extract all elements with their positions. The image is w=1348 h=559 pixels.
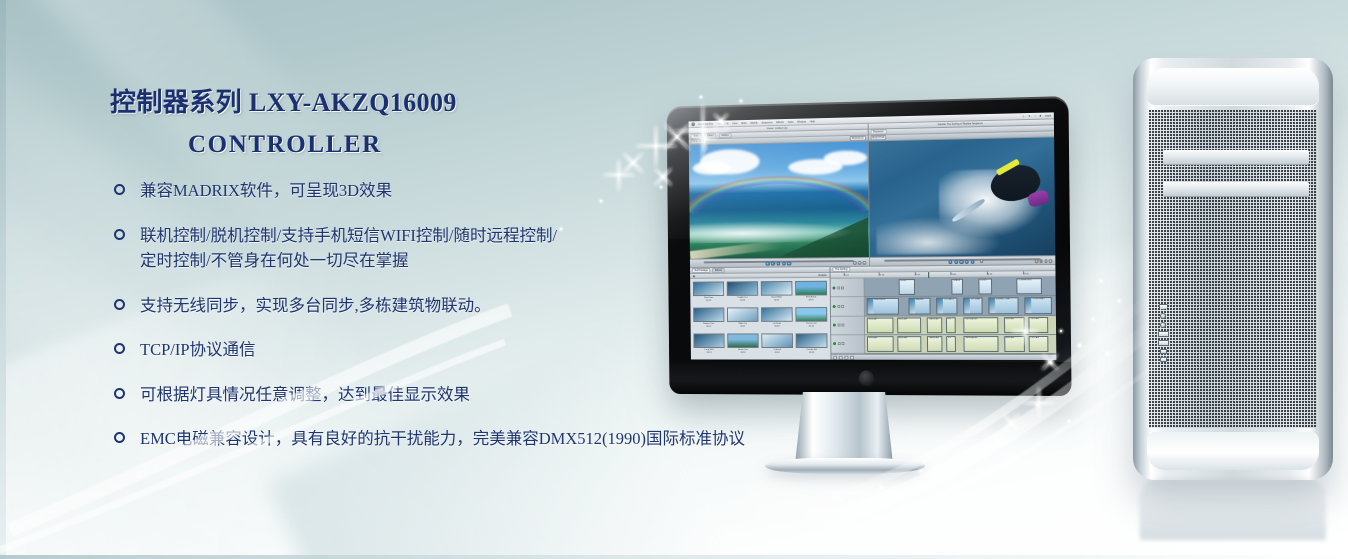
mark-out-button[interactable] <box>971 259 975 263</box>
timeline-clip[interactable]: LONG WALL <box>1025 297 1052 313</box>
page-title: 控制器系列 LXY-AKZQ16009 <box>110 82 730 119</box>
clip-label: LONG WALL <box>1032 298 1044 301</box>
timeline-track-v1[interactable]: PIPE DROP BARREL CUTBACK <box>865 296 1056 316</box>
viewer-transport <box>690 258 870 267</box>
fit-to-fill-button[interactable] <box>1049 260 1053 264</box>
sparkle-star-icon <box>1000 412 1022 434</box>
viewer-window: Viewer: Untitled Clip Video Filters Moti… <box>689 124 870 259</box>
sparkle-dust <box>1100 280 1102 282</box>
tab-filters[interactable]: Filters <box>705 133 717 138</box>
water-spray <box>876 214 1006 255</box>
track-target-toggle[interactable] <box>842 324 845 327</box>
tower-handle-top <box>1147 68 1319 106</box>
clip-thumbnail[interactable] <box>796 333 828 348</box>
menu-item-modify[interactable]: Modify <box>750 121 757 124</box>
sparkle-dust <box>1068 420 1070 422</box>
bullet-ring-icon <box>114 184 125 195</box>
track-lock-toggle[interactable] <box>837 324 840 327</box>
tab-surf-footage[interactable]: Surf Footage <box>692 268 711 273</box>
sparkle-dust <box>1106 352 1109 355</box>
clip-duration: 00:18 <box>774 325 779 327</box>
distort-button[interactable] <box>862 261 865 265</box>
timeline-clip[interactable]: WAVE.AIF <box>927 317 942 333</box>
canvas-window: Canvas: The Surfing in Pipeline Sequence… <box>868 119 1055 257</box>
timecode-out[interactable]: 00:00:32:10 <box>850 136 866 141</box>
timeline-clip[interactable]: BARREL <box>908 298 931 314</box>
ruler-label: 02:00 <box>915 275 920 277</box>
timeline-clip[interactable]: CUTBACK <box>936 298 957 314</box>
sparkle-dust <box>1078 344 1081 347</box>
track-header[interactable] <box>831 297 864 316</box>
clip-label: SUNSET LINE <box>996 299 1010 302</box>
clip-label: CUTBACK <box>944 299 954 302</box>
sparkle-dust <box>960 456 962 458</box>
timeline-toolbar <box>831 354 1056 360</box>
display-screen: Final Cut Pro File Edit View Mark Modify… <box>689 112 1057 360</box>
firewire-port-icon[interactable] <box>1159 304 1168 310</box>
timeline-body: TITLE XFADE LOGO LOWER 3RD PIPE DRO <box>831 277 1057 354</box>
menu-item-window[interactable]: Window <box>797 120 806 123</box>
surf-line <box>690 218 869 243</box>
timeline-window: The Surfing 00:00 01:00 02:00 03:00 <box>830 265 1056 360</box>
optical-drive-slot[interactable] <box>1163 150 1309 165</box>
clip-thumbnail[interactable] <box>795 307 827 322</box>
clip-thumb-strip <box>909 299 915 313</box>
display-brand-icon <box>858 370 873 386</box>
sparkle-dust <box>880 486 883 489</box>
clip-thumb-strip <box>1026 298 1032 312</box>
track-visible-toggle[interactable] <box>833 305 836 308</box>
list-item-label: EMC电磁兼容设计，具有良好的抗干扰能力，完美兼容DMX512(1990)国际标… <box>140 429 745 448</box>
timecode-in[interactable]: 00:00:14:02 <box>691 139 706 144</box>
viewer-tool-buttons[interactable] <box>853 261 865 265</box>
canvas-image-surfer <box>868 137 1055 257</box>
timeline-clip[interactable]: XFADE <box>951 279 963 295</box>
timeline-clip[interactable]: LOWER 3RD <box>1017 278 1042 294</box>
timeline-clip[interactable]: Surf-loop.aiff <box>963 317 998 333</box>
clip-thumbnail[interactable] <box>693 307 724 322</box>
track-lock-toggle[interactable] <box>837 286 840 289</box>
tab-motion[interactable]: Motion <box>719 133 731 138</box>
headphone-jack-icon[interactable] <box>1160 313 1166 319</box>
clip-overlays-icon[interactable] <box>845 355 849 359</box>
clip-thumbnail[interactable] <box>727 333 758 348</box>
mark-out-button[interactable] <box>787 261 791 265</box>
prev-frame-button[interactable] <box>771 261 775 265</box>
list-item[interactable]: Barrel Ride 00:21 <box>761 281 793 304</box>
list-item[interactable]: Pipe Drop 00:12 <box>693 281 724 304</box>
list-item[interactable]: Bottom Turn 00:11 <box>693 307 724 330</box>
track-height-icon[interactable] <box>850 355 854 359</box>
timeline-clip[interactable]: SUNSET LINE <box>988 298 1019 314</box>
clip-thumbnail[interactable] <box>761 307 793 322</box>
menu-item-view[interactable]: View <box>732 122 737 125</box>
bullet-ring-icon <box>114 432 125 443</box>
timeline-clip[interactable]: MUS.AIF <box>867 336 893 352</box>
clip-thumb-strip <box>868 299 874 313</box>
clip-label: PIPE DROP <box>874 299 885 302</box>
next-frame-button[interactable] <box>776 261 780 265</box>
clip-duration: 00:10 <box>775 351 780 353</box>
clip-label: BARREL <box>916 299 924 302</box>
timeline-track-a2[interactable]: MUS.AIF MUS.AIF WAVE.AIF FX Surf-loop.ai… <box>865 335 1056 354</box>
list-item: EMC电磁兼容设计，具有良好的抗干扰能力，完美兼容DMX512(1990)国际标… <box>110 426 850 452</box>
track-area[interactable]: TITLE XFADE LOGO LOWER 3RD PIPE DRO <box>865 277 1057 354</box>
bullet-ring-icon <box>114 299 125 310</box>
play-button[interactable] <box>766 261 770 265</box>
browser-window: Surf Footage Effects ▣ Duration Pipe D <box>690 267 831 360</box>
track-lock-toggle[interactable] <box>837 342 840 345</box>
link-toggle-icon[interactable] <box>833 355 837 359</box>
list-item-label: 联机控制/脱机控制/支持手机短信WIFI控制/随时远程控制/ <box>140 226 557 245</box>
track-visible-toggle[interactable] <box>833 286 836 289</box>
play-button[interactable] <box>948 260 952 264</box>
cloud <box>824 151 868 166</box>
clip-thumbnail[interactable] <box>693 333 724 347</box>
scrubber-handle[interactable] <box>980 259 983 263</box>
bullet-ring-icon <box>114 229 125 240</box>
track-header-column <box>831 279 866 354</box>
timeline-track-v2[interactable]: TITLE XFADE LOGO LOWER 3RD <box>865 277 1056 297</box>
replace-edit-button[interactable] <box>1044 260 1048 264</box>
clip-label: LIP SNAP <box>971 299 981 302</box>
next-frame-button[interactable] <box>959 260 963 264</box>
list-item[interactable]: Outside Set 00:19 <box>796 333 828 356</box>
timeline-clip[interactable]: PIPE DROP <box>867 298 899 314</box>
snapping-toggle-icon[interactable] <box>839 355 843 359</box>
ruler-label: 04:00 <box>987 274 992 276</box>
tower-computer <box>1133 58 1333 480</box>
clip-duration: 00:09 <box>740 299 745 301</box>
list-item[interactable]: Reef Break 00:15 <box>795 281 827 305</box>
canvas-transport <box>870 256 1056 265</box>
bullet-ring-icon <box>114 343 125 354</box>
tab-the-surfing[interactable]: The Surfing <box>832 267 850 272</box>
tab-effects[interactable]: Effects <box>712 268 725 273</box>
timeline-clip[interactable]: MUS.AIF <box>897 317 922 333</box>
volume-icon[interactable]: ♪ <box>1034 114 1035 117</box>
track-target-toggle[interactable] <box>841 305 844 308</box>
bluetooth-icon[interactable]: ⇅ <box>1028 114 1030 117</box>
menu-item-help[interactable]: Help <box>810 120 815 123</box>
mark-in-button[interactable] <box>782 261 786 265</box>
headline-block: 控制器系列 LXY-AKZQ16009 CONTROLLER <box>110 82 730 159</box>
clip-thumbnail[interactable] <box>761 281 793 296</box>
clip-thumbnail[interactable] <box>761 333 793 348</box>
ruler-label: 05:00 <box>1023 274 1028 276</box>
list-item[interactable]: Sunset Line 00:24 <box>795 307 827 330</box>
clip-thumbnail[interactable] <box>693 281 724 296</box>
canvas-tool-buttons[interactable] <box>1035 260 1053 264</box>
timeline-clip[interactable]: MUS.AIF <box>867 317 893 333</box>
timeline-clip[interactable]: OUT.AIF <box>1029 317 1049 333</box>
desktop-display: Final Cut Pro File Edit View Mark Modify… <box>667 96 1072 396</box>
prev-frame-button[interactable] <box>954 260 958 264</box>
ruler-label: 01:00 <box>879 275 884 277</box>
track-header[interactable] <box>831 335 864 354</box>
sparkle-dust <box>1118 300 1120 302</box>
surfer-scene <box>868 137 1055 257</box>
playback-buttons[interactable] <box>948 259 975 264</box>
wifi-icon[interactable]: ◇ <box>1022 115 1024 118</box>
apple-logo-icon[interactable] <box>691 122 695 126</box>
viewer-image-beach <box>689 141 869 258</box>
clip-thumbnail[interactable] <box>795 281 827 296</box>
list-item[interactable]: Beach Pan 00:16 <box>727 333 759 356</box>
firewire-port-icon[interactable] <box>1160 349 1167 354</box>
sparkle-dust <box>1092 318 1094 320</box>
menu-item-effects[interactable]: Effects <box>776 121 784 124</box>
track-target-toggle[interactable] <box>841 286 844 289</box>
list-item-label: 兼容MADRIX软件，可呈现3D效果 <box>140 181 392 200</box>
timecode-current[interactable]: 00:01:07:04 <box>870 135 886 140</box>
power-button-icon[interactable] <box>1160 322 1166 328</box>
crop-button[interactable] <box>858 261 861 265</box>
final-cut-pro-window: Final Cut Pro File Edit View Mark Modify… <box>689 112 1057 360</box>
insert-edit-button[interactable] <box>1035 260 1039 264</box>
tower-port-cluster <box>1155 304 1171 372</box>
menu-item-tools[interactable]: Tools <box>788 120 794 123</box>
mark-in-button[interactable] <box>965 260 969 264</box>
clip-thumb-strip <box>937 299 943 313</box>
ruler-label: 00:00 <box>844 275 849 277</box>
optical-drive-slot[interactable] <box>1163 182 1309 197</box>
timeline-clip[interactable]: MUS.AIF <box>897 336 922 352</box>
timeline-clip[interactable]: FX <box>946 317 956 333</box>
tower-reflection <box>1140 478 1326 540</box>
usb-port-icon[interactable] <box>1158 331 1169 337</box>
menu-item-file[interactable]: File <box>717 122 721 125</box>
clip-duration: 00:12 <box>706 299 711 301</box>
tower-handle-bottom <box>1147 432 1319 470</box>
browser-clip-grid: Pipe Drop 00:12 Paddle Out 00:09 <box>690 278 830 360</box>
sparkle-dust <box>920 470 922 472</box>
clip-thumb-strip <box>964 299 970 313</box>
timeline-clip[interactable]: LIP SNAP <box>963 298 982 314</box>
clip-thumbnail[interactable] <box>727 281 758 296</box>
clip-duration: 00:07 <box>740 325 745 327</box>
menu-item-edit[interactable]: Edit <box>724 122 728 125</box>
menu-item-mark[interactable]: Mark <box>741 121 747 124</box>
sparkle-dust <box>996 440 999 443</box>
browser-view-icon[interactable]: ▣ <box>693 274 695 277</box>
list-item[interactable]: Wipe Out 00:07 <box>727 307 759 330</box>
display-stand-neck <box>795 392 893 464</box>
ruler-label: 03:00 <box>951 274 956 276</box>
clip-duration: 00:15 <box>809 299 814 301</box>
clip-duration: 00:16 <box>741 351 746 353</box>
clip-thumb-strip <box>989 299 995 313</box>
list-item-label: 支持无线同步，实现多台同步,多栋建筑物联动。 <box>140 296 491 315</box>
overwrite-edit-button[interactable] <box>1039 260 1043 264</box>
banner-stage: 控制器系列 LXY-AKZQ16009 CONTROLLER 兼容MADRIX软… <box>0 0 1348 559</box>
display-chin <box>669 361 1071 396</box>
timeline-clip[interactable]: MUS.AIF <box>1004 317 1025 333</box>
timeline-clip[interactable]: TITLE <box>898 279 915 295</box>
viewer-row: Viewer: Untitled Clip Video Filters Moti… <box>689 119 1056 259</box>
display-stand-base <box>765 458 925 474</box>
playback-buttons[interactable] <box>766 261 792 265</box>
browser-duration-header[interactable]: Duration <box>818 273 827 276</box>
sparkle-dust <box>1036 404 1038 406</box>
lower-panes: Surf Footage Effects ▣ Duration Pipe D <box>690 265 1056 360</box>
list-item[interactable]: Paddle Out 00:09 <box>727 281 759 304</box>
beach-scene <box>689 141 869 258</box>
clip-duration: 00:13 <box>707 351 712 353</box>
usb-port-icon[interactable] <box>1158 340 1169 346</box>
clip-thumbnail[interactable] <box>727 307 758 322</box>
rainbow <box>689 171 869 225</box>
track-audible-toggle[interactable] <box>833 342 836 345</box>
list-item-label: TCP/IP协议通信 <box>140 340 256 359</box>
list-item-label: 可根据灯具情况任意调整，达到最佳显示效果 <box>140 385 470 404</box>
battery-icon[interactable]: ■ <box>1040 114 1042 117</box>
track-lock-toggle[interactable] <box>837 305 840 308</box>
menu-item-sequence[interactable]: Sequence <box>761 121 772 124</box>
list-item[interactable]: Long Wall 00:13 <box>693 333 724 356</box>
timeline-clip[interactable]: WAVE.AIF <box>927 336 942 352</box>
track-target-toggle[interactable] <box>842 342 845 345</box>
menu-bar-clock[interactable]: clock <box>1045 114 1051 117</box>
clip-duration: 00:19 <box>809 351 814 353</box>
firewire-port-icon[interactable] <box>1160 357 1167 362</box>
clip-duration: 00:21 <box>774 299 779 301</box>
menu-item-app[interactable]: Final Cut Pro <box>699 122 713 125</box>
timeline-clip[interactable]: LOGO <box>978 279 992 295</box>
page-subtitle: CONTROLLER <box>188 131 730 159</box>
zoom-button[interactable] <box>853 261 856 265</box>
timeline-track-a1[interactable]: MUS.AIF MUS.AIF WAVE.AIF FX Surf-loop.ai… <box>865 316 1056 335</box>
list-item[interactable]: Lip Snap 00:18 <box>761 307 793 330</box>
timeline-clip[interactable]: Surf-loop.aiff <box>963 336 998 352</box>
tab-sequence[interactable]: Sequence <box>870 129 886 134</box>
track-header[interactable] <box>831 279 864 298</box>
clip-duration: 00:24 <box>809 325 814 327</box>
list-item[interactable]: Cutback 00:10 <box>761 333 793 356</box>
timeline-clip[interactable]: FX <box>946 336 956 352</box>
clip-duration: 00:11 <box>706 325 711 327</box>
bullet-ring-icon <box>114 388 125 399</box>
timeline-clip[interactable]: MUS.AIF <box>1004 336 1025 352</box>
track-header[interactable] <box>831 316 864 335</box>
timeline-clip[interactable]: OUT.AIF <box>1029 336 1049 352</box>
track-audible-toggle[interactable] <box>833 324 836 327</box>
tab-video[interactable]: Video <box>691 134 702 139</box>
editor-panes: Viewer: Untitled Clip Video Filters Moti… <box>689 119 1057 360</box>
